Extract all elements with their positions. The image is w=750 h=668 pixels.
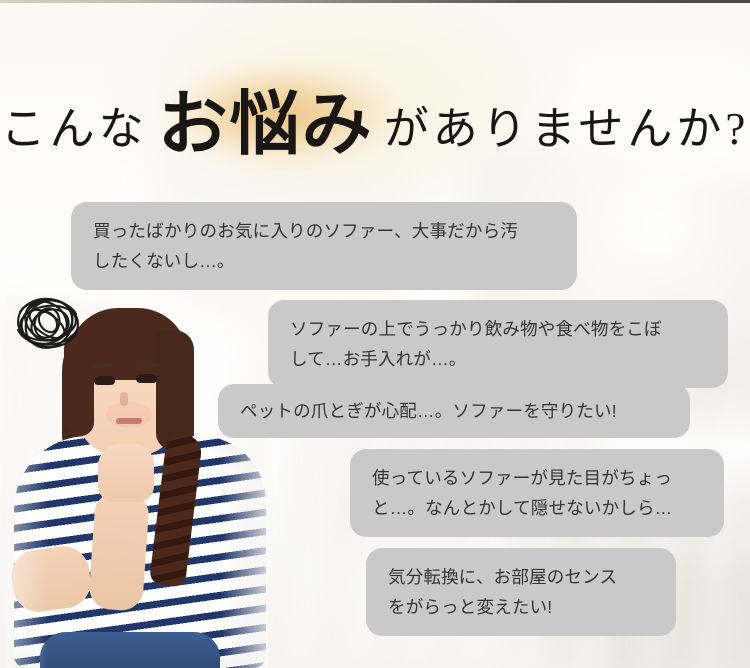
scribble-doodle	[12, 292, 84, 354]
hand-on-chin	[98, 444, 154, 502]
top-edge-strip	[0, 0, 750, 3]
speech-bubble: ソファーの上でうっかり飲み物や食べ物をこぼ して…お手入れが…。	[268, 300, 728, 388]
nose	[120, 392, 128, 406]
speech-bubble: ペットの爪とぎが心配…。ソファーを守りたい!	[218, 384, 690, 438]
speech-bubble: 気分転換に、お部屋のセンス をがらっと変えたい!	[366, 548, 676, 636]
speech-bubble: 使っているソファーが見た目がちょっ と…。なんとかして隠せないかしら…	[350, 449, 724, 537]
mouth	[116, 418, 142, 424]
headline-emphasis: お悩み	[158, 68, 374, 169]
forearm	[88, 490, 150, 611]
jeans	[40, 632, 220, 668]
eye-left	[94, 376, 115, 385]
eye-right	[136, 374, 157, 383]
headline-text: こんな お悩み がありませんか?	[1, 64, 750, 165]
headline-tail: がありませんか?	[384, 92, 750, 157]
page-root: こんな お悩み がありませんか?	[0, 0, 750, 668]
cheek-blush	[106, 402, 152, 428]
page-title: こんな お悩み がありませんか?	[0, 62, 750, 166]
speech-bubble: 買ったばかりのお気に入りのソファー、大事だから汚 したくないし…。	[71, 202, 577, 290]
hair-side-right	[156, 330, 194, 450]
headline-lead: こんな	[1, 92, 148, 157]
